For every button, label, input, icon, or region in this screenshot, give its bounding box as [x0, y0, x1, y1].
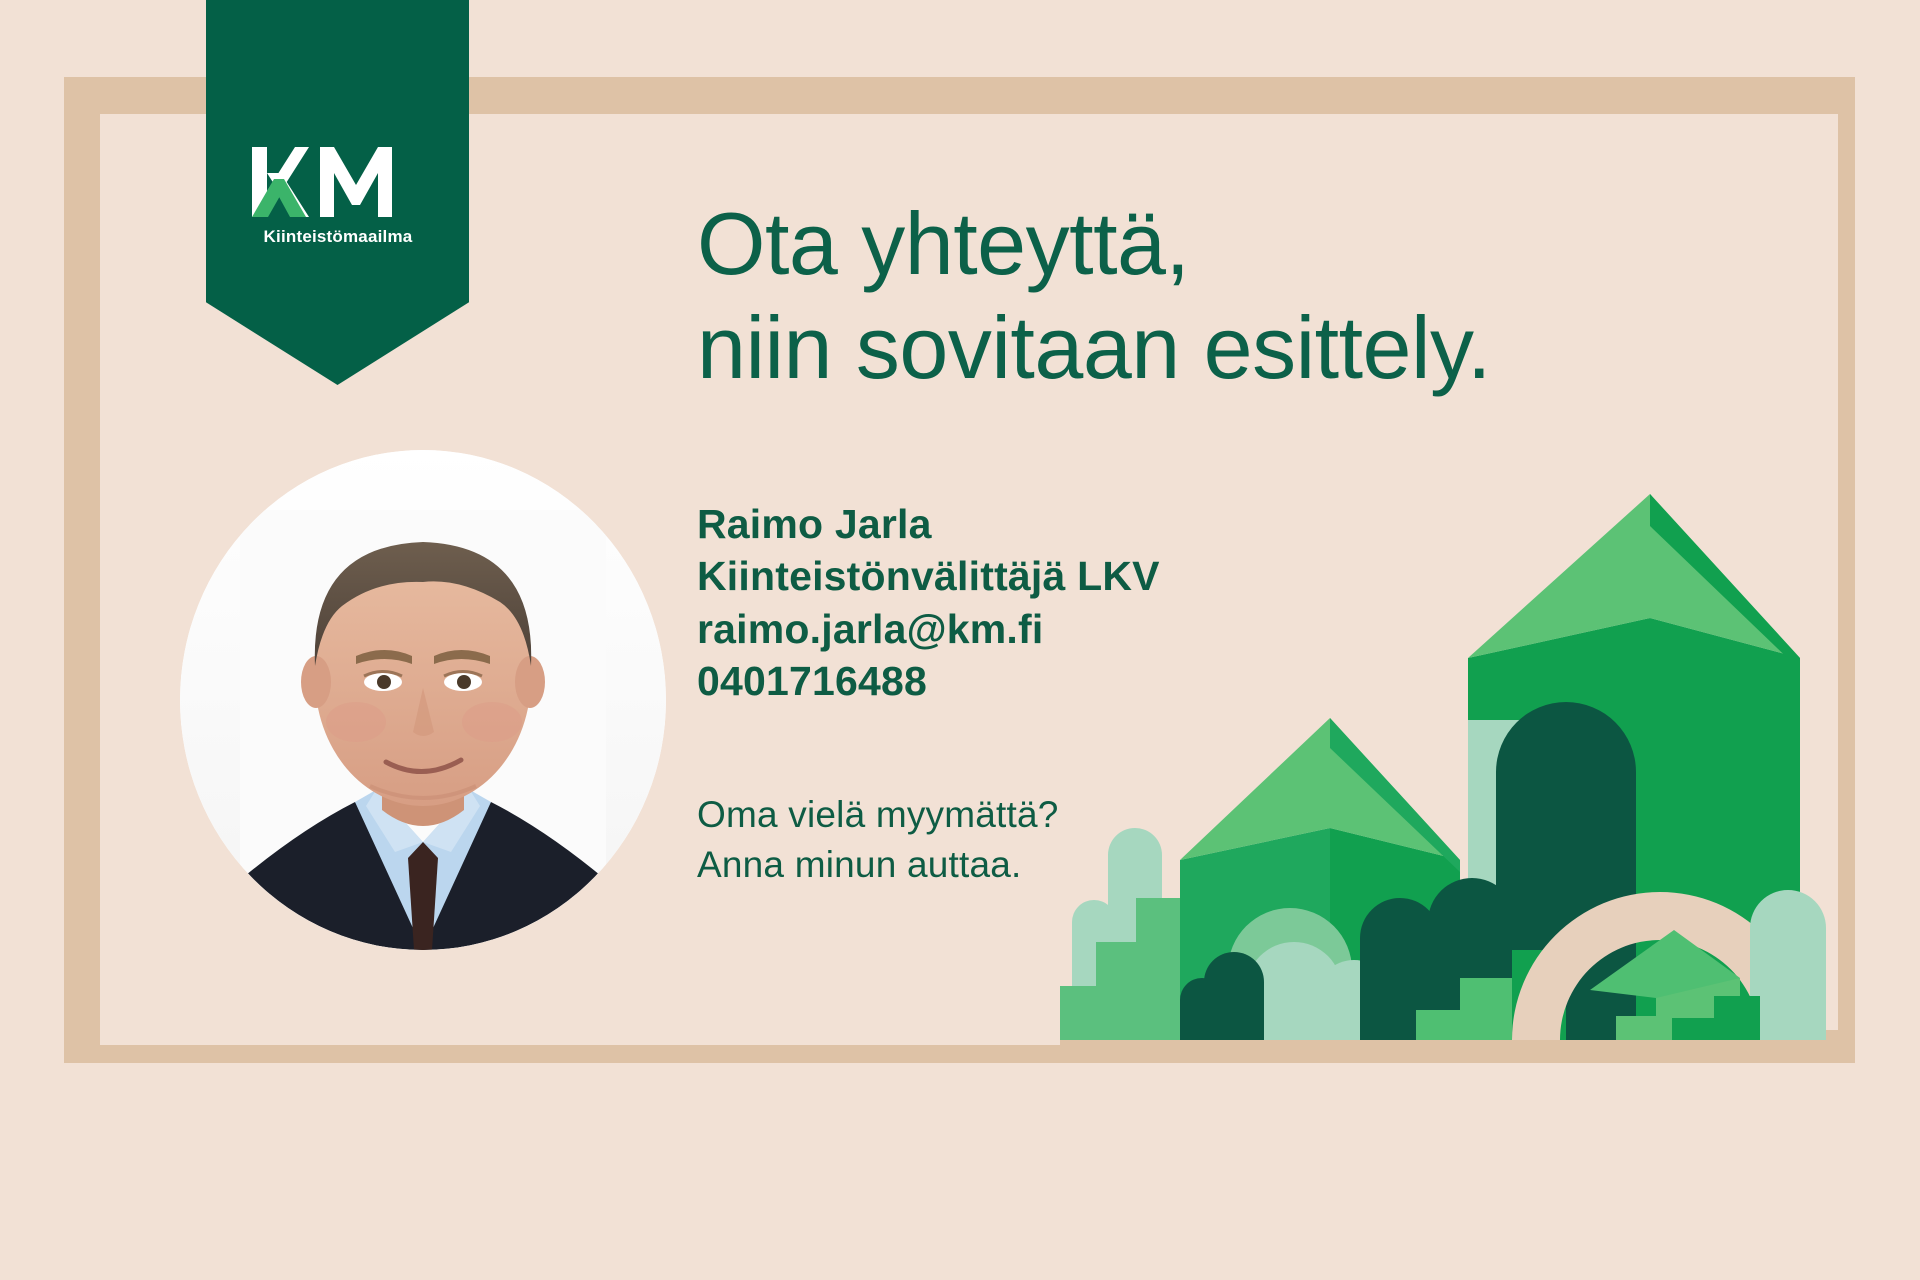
- pillar-pale-right: [1750, 890, 1826, 1040]
- tagline-line-1: Oma vielä myymättä?: [697, 790, 1059, 840]
- headline-line-2: niin sovitaan esittely.: [697, 296, 1757, 400]
- agent-portrait: [180, 450, 666, 950]
- tagline-line-2: Anna minun auttaa.: [697, 840, 1059, 890]
- block-small-step: [1616, 1016, 1676, 1040]
- houses-illustration: [1060, 430, 1840, 1045]
- contact-card: Kiinteistömaailma: [0, 0, 1920, 1280]
- page-title: Ota yhteyttä, niin sovitaan esittely.: [697, 192, 1757, 400]
- km-logo: Kiinteistömaailma: [250, 143, 426, 249]
- tagline-block: Oma vielä myymättä? Anna minun auttaa.: [697, 790, 1059, 890]
- km-wordmark: Kiinteistömaailma: [263, 227, 412, 246]
- headline-line-1: Ota yhteyttä,: [697, 192, 1757, 296]
- shrub-dark-medium: [1204, 952, 1264, 1040]
